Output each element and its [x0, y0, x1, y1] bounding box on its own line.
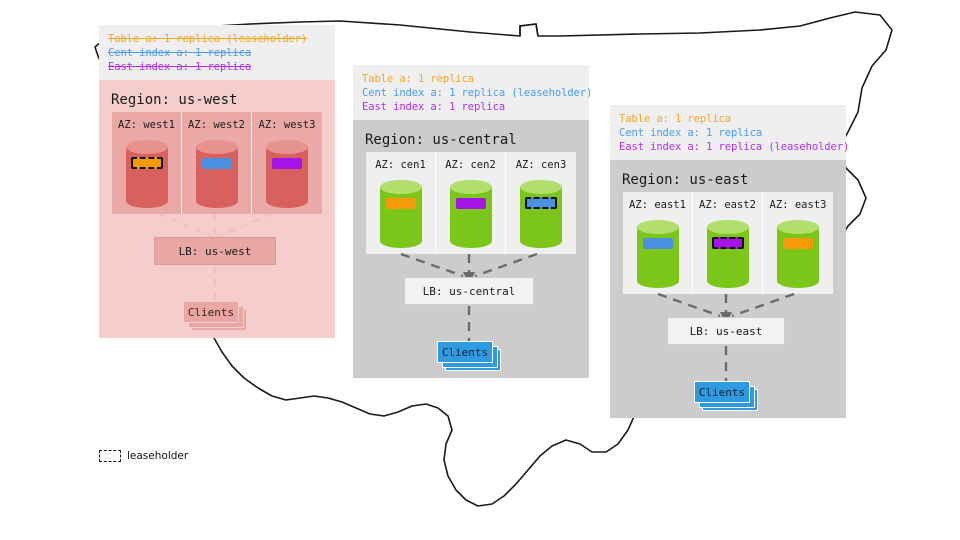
load-balancer-us-central[interactable]: LB: us-central	[404, 277, 534, 305]
clients-us-east[interactable]: Clients	[694, 381, 758, 411]
clients-us-west-front[interactable]: Clients	[183, 301, 239, 323]
clients-us-east-front[interactable]: Clients	[694, 381, 750, 403]
leaseholder-dashed-swatch-icon	[99, 450, 121, 462]
cylinder-body	[196, 147, 238, 201]
cylinder-top	[266, 140, 308, 154]
cylinder-top	[196, 140, 238, 154]
cylinder-body	[777, 227, 819, 281]
az-west1-label: AZ: west1	[118, 119, 175, 131]
az-east2-label: AZ: east2	[699, 199, 756, 211]
az-west1[interactable]: AZ: west1	[112, 112, 182, 214]
clients-us-west-label: Clients	[188, 306, 234, 319]
az-cen3[interactable]: AZ: cen3	[506, 152, 576, 254]
replica-chip-east-index-a	[272, 158, 302, 169]
replica-chip-east-index-a-leaseholder	[712, 237, 744, 249]
region-west-body: Region: us-west AZ: west1	[99, 80, 335, 338]
node-cen1[interactable]	[380, 180, 422, 248]
az-west3[interactable]: AZ: west3	[252, 112, 322, 214]
region-west-title: Region: us-west	[99, 80, 335, 108]
cylinder-top	[707, 220, 749, 234]
replica-chip-east-index-a	[456, 198, 486, 209]
legend-leaseholder: leaseholder	[99, 450, 188, 462]
node-west3[interactable]	[266, 140, 308, 208]
az-west2[interactable]: AZ: west2	[182, 112, 252, 214]
cylinder-body	[707, 227, 749, 281]
node-west2[interactable]	[196, 140, 238, 208]
node-east3[interactable]	[777, 220, 819, 288]
replica-chip-cent-index-a-leaseholder	[525, 197, 557, 209]
clients-us-central[interactable]: Clients	[437, 341, 501, 371]
load-balancer-us-west[interactable]: LB: us-west	[154, 237, 276, 265]
region-east-replica-table-a: Table a: 1 replica	[619, 112, 837, 126]
region-east-az-strip: AZ: east1 AZ: east2	[623, 192, 833, 294]
load-balancer-us-east[interactable]: LB: us-east	[667, 317, 785, 345]
cylinder-top	[777, 220, 819, 234]
region-east-title: Region: us-east	[610, 160, 846, 188]
cylinder-body	[520, 187, 562, 241]
az-east3-label: AZ: east3	[770, 199, 827, 211]
replica-chip-cent-index-a	[643, 238, 673, 249]
az-cen1-label: AZ: cen1	[375, 159, 426, 171]
cylinder-body	[126, 147, 168, 201]
region-central-replica-east-index-a: East index a: 1 replica	[362, 100, 580, 114]
az-east2[interactable]: AZ: east2	[693, 192, 763, 294]
node-cen3[interactable]	[520, 180, 562, 248]
az-cen3-label: AZ: cen3	[516, 159, 567, 171]
cylinder-top	[126, 140, 168, 154]
legend-leaseholder-label: leaseholder	[127, 450, 188, 462]
replica-chip-table-a	[386, 198, 416, 209]
clients-us-east-label: Clients	[699, 386, 745, 399]
load-balancer-us-west-label: LB: us-west	[179, 245, 252, 258]
clients-us-west[interactable]: Clients	[183, 301, 247, 331]
cylinder-top	[450, 180, 492, 194]
region-us-central: Table a: 1 replica Cent index a: 1 repli…	[353, 65, 589, 378]
region-us-east: Table a: 1 replica Cent index a: 1 repli…	[610, 105, 846, 418]
region-west-replica-header: Table a: 1 replica (leaseholder) Cent in…	[99, 25, 335, 80]
az-east1[interactable]: AZ: east1	[623, 192, 693, 294]
clients-us-central-front[interactable]: Clients	[437, 341, 493, 363]
region-central-title: Region: us-central	[353, 120, 589, 148]
cylinder-body	[266, 147, 308, 201]
az-cen1[interactable]: AZ: cen1	[366, 152, 436, 254]
region-central-replica-table-a: Table a: 1 replica	[362, 72, 580, 86]
cylinder-top	[520, 180, 562, 194]
clients-us-central-label: Clients	[442, 346, 488, 359]
region-west-az-strip: AZ: west1 AZ: west2	[112, 112, 322, 214]
replica-chip-table-a	[783, 238, 813, 249]
node-east2[interactable]	[707, 220, 749, 288]
cylinder-top	[380, 180, 422, 194]
region-west-replica-east-index-a: East index a: 1 replica	[108, 60, 326, 74]
region-east-replica-east-index-a: East index a: 1 replica (leaseholder)	[619, 140, 837, 154]
az-west2-label: AZ: west2	[188, 119, 245, 131]
region-central-replica-header: Table a: 1 replica Cent index a: 1 repli…	[353, 65, 589, 120]
region-central-body: Region: us-central AZ: cen1	[353, 120, 589, 378]
az-east3[interactable]: AZ: east3	[763, 192, 833, 294]
az-cen2[interactable]: AZ: cen2	[436, 152, 506, 254]
replica-chip-cent-index-a	[202, 158, 232, 169]
node-cen2[interactable]	[450, 180, 492, 248]
region-east-replica-header: Table a: 1 replica Cent index a: 1 repli…	[610, 105, 846, 160]
region-us-west: Table a: 1 replica (leaseholder) Cent in…	[99, 25, 335, 338]
az-east1-label: AZ: east1	[629, 199, 686, 211]
az-west3-label: AZ: west3	[259, 119, 316, 131]
cylinder-body	[380, 187, 422, 241]
region-east-replica-cent-index-a: Cent index a: 1 replica	[619, 126, 837, 140]
diagram-canvas: Table a: 1 replica (leaseholder) Cent in…	[0, 0, 960, 540]
replica-chip-table-a-leaseholder	[131, 157, 163, 169]
region-central-az-strip: AZ: cen1 AZ: cen2	[366, 152, 576, 254]
region-west-replica-table-a: Table a: 1 replica (leaseholder)	[108, 32, 326, 46]
region-west-replica-cent-index-a: Cent index a: 1 replica	[108, 46, 326, 60]
cylinder-body	[637, 227, 679, 281]
az-cen2-label: AZ: cen2	[445, 159, 496, 171]
load-balancer-us-east-label: LB: us-east	[690, 325, 763, 338]
cylinder-top	[637, 220, 679, 234]
node-west1[interactable]	[126, 140, 168, 208]
region-central-replica-cent-index-a: Cent index a: 1 replica (leaseholder)	[362, 86, 580, 100]
node-east1[interactable]	[637, 220, 679, 288]
cylinder-body	[450, 187, 492, 241]
region-east-body: Region: us-east AZ: east1	[610, 160, 846, 418]
load-balancer-us-central-label: LB: us-central	[423, 285, 516, 298]
